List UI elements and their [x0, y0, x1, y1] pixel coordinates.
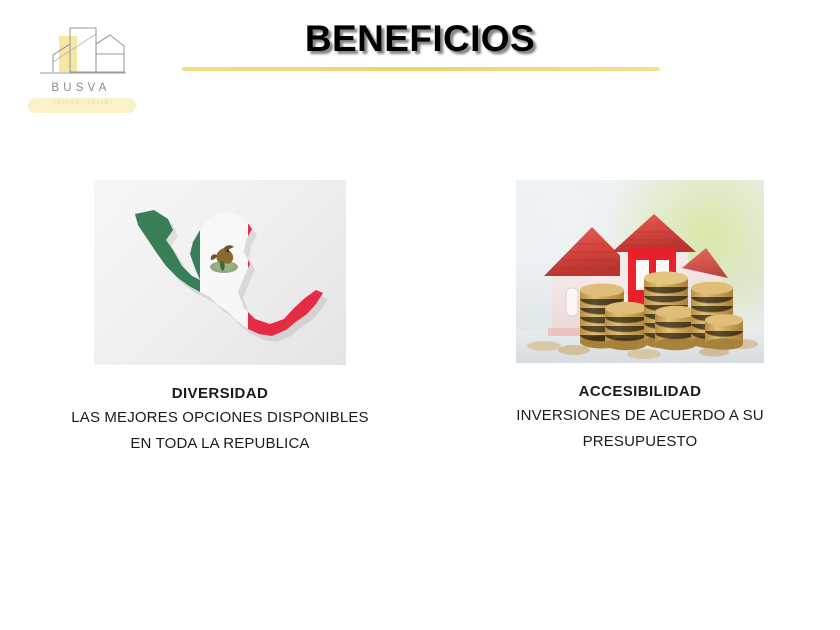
- benefit-title: DIVERSIDAD: [0, 384, 440, 404]
- benefit-caption-diversidad: DIVERSIDAD LAS MEJORES OPCIONES DISPONIB…: [0, 384, 440, 456]
- house-and-coins-photo: [516, 180, 764, 363]
- brand-tagline-highlight: inmobiliaria: [28, 98, 136, 113]
- benefit-title: ACCESIBILIDAD: [440, 382, 840, 402]
- benefit-caption-accesibilidad: ACCESIBILIDAD INVERSIONES DE ACUERDO A S…: [440, 382, 840, 454]
- benefit-body-line-2: PRESUPUESTO: [440, 428, 840, 454]
- benefit-body-line-2: EN TODA LA REPUBLICA: [0, 430, 440, 456]
- title-underline-rule: [182, 67, 660, 71]
- benefit-card-accesibilidad: ACCESIBILIDAD INVERSIONES DE ACUERDO A S…: [440, 180, 840, 454]
- mexico-map-flag-photo: [94, 180, 346, 365]
- benefit-body-line-1: LAS MEJORES OPCIONES DISPONIBLES: [0, 404, 440, 430]
- slide-canvas: BUSVA inmobiliaria BENEFICIOS: [0, 0, 840, 630]
- brand-name: BUSVA: [26, 82, 136, 94]
- brand-tagline: inmobiliaria: [28, 100, 136, 106]
- page-title: BENEFICIOS: [0, 18, 840, 60]
- benefit-body-line-1: INVERSIONES DE ACUERDO A SU: [440, 402, 840, 428]
- benefit-card-diversidad: DIVERSIDAD LAS MEJORES OPCIONES DISPONIB…: [0, 180, 440, 456]
